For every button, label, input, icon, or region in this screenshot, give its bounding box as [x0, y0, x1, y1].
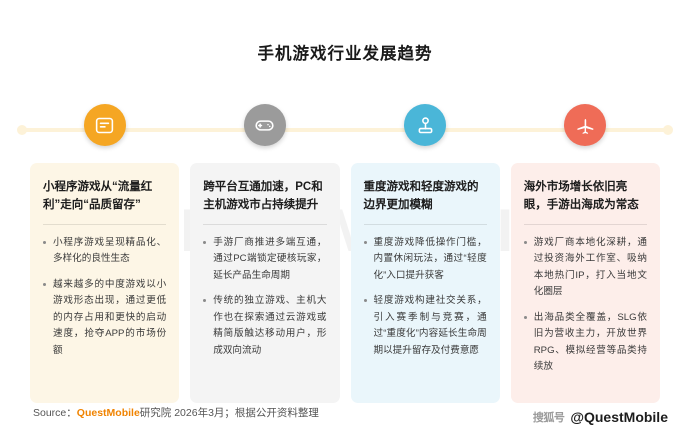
- list-item: 出海品类全覆盖，SLG依旧为营收主力，开放世界RPG、模拟经营等品类持续放: [524, 310, 647, 376]
- list-item: 手游厂商推进多端互通，通过PC端锁定硬核玩家，延长产品生命周期: [203, 235, 326, 285]
- source-prefix: Source：: [33, 407, 77, 419]
- card-3-divider: [364, 224, 487, 225]
- list-item: 轻度游戏构建社交关系，引入赛季制与竞赛，通过“重度化”内容延长生命周期以提升留存…: [364, 293, 487, 359]
- sohu-logo: 搜狐号: [533, 409, 565, 425]
- infographic-page: QUESTMOBILE 手机游戏行业发展趋势 小程序游戏从“流量红利”走向“品质…: [0, 0, 690, 447]
- source-note: Source：QuestMobile研究院 2026年3月；根据公开资料整理: [33, 405, 319, 420]
- gamepad-icon: [244, 104, 286, 146]
- page-title: 手机游戏行业发展趋势: [0, 40, 690, 64]
- card-4-bullets: 游戏厂商本地化深耕，通过投资海外工作室、吸纳本地热门IP，打入当地文化圈层 出海…: [524, 235, 647, 376]
- card-2-bullets: 手游厂商推进多端互通，通过PC端锁定硬核玩家，延长产品生命周期 传统的独立游戏、…: [203, 235, 326, 360]
- source-brand: QuestMobile: [77, 407, 140, 419]
- card-1-divider: [43, 224, 166, 225]
- column-2: 跨平台互通加速，PC和主机游戏市占持续提升 手游厂商推进多端互通，通过PC端锁定…: [190, 104, 339, 403]
- timeline-cap-right: [663, 125, 673, 135]
- card-2-heading: 跨平台互通加速，PC和主机游戏市占持续提升: [203, 178, 326, 215]
- card-3-bullets: 重度游戏降低操作门槛，内置休闲玩法，通过“轻度化”入口提升获客 轻度游戏构建社交…: [364, 235, 487, 360]
- card-4-divider: [524, 224, 647, 225]
- card-3-heading: 重度游戏和轻度游戏的边界更加模糊: [364, 178, 487, 215]
- brand-watermark: 搜狐号 @QuestMobile: [533, 409, 668, 425]
- card-3: 重度游戏和轻度游戏的边界更加模糊 重度游戏降低操作门槛，内置休闲玩法，通过“轻度…: [351, 163, 500, 403]
- list-item: 传统的独立游戏、主机大作也在探索通过云游戏或精简版触达移动用户，形成双向流动: [203, 293, 326, 359]
- column-4: 海外市场增长依旧亮眼，手游出海成为常态 游戏厂商本地化深耕，通过投资海外工作室、…: [511, 104, 660, 403]
- list-item: 游戏厂商本地化深耕，通过投资海外工作室、吸纳本地热门IP，打入当地文化圈层: [524, 235, 647, 301]
- card-1-heading: 小程序游戏从“流量红利”走向“品质留存”: [43, 178, 166, 215]
- card-4: 海外市场增长依旧亮眼，手游出海成为常态 游戏厂商本地化深耕，通过投资海外工作室、…: [511, 163, 660, 403]
- joystick-icon: [404, 104, 446, 146]
- source-text: 研究院 2026年3月；根据公开资料整理: [140, 407, 319, 419]
- card-2: 跨平台互通加速，PC和主机游戏市占持续提升 手游厂商推进多端互通，通过PC端锁定…: [190, 163, 339, 403]
- list-item: 小程序游戏呈现精品化、多样化的良性生态: [43, 235, 166, 268]
- mini-program-icon: [84, 104, 126, 146]
- column-3: 重度游戏和轻度游戏的边界更加模糊 重度游戏降低操作门槛，内置休闲玩法，通过“轻度…: [351, 104, 500, 403]
- brand-handle: @QuestMobile: [570, 409, 668, 425]
- airplane-icon: [564, 104, 606, 146]
- list-item: 越来越多的中度游戏以小游戏形态出现，通过更低的内存占用和更快的启动速度，抢夺AP…: [43, 277, 166, 360]
- card-2-divider: [203, 224, 326, 225]
- card-4-heading: 海外市场增长依旧亮眼，手游出海成为常态: [524, 178, 647, 215]
- timeline-cap-left: [17, 125, 27, 135]
- card-1: 小程序游戏从“流量红利”走向“品质留存” 小程序游戏呈现精品化、多样化的良性生态…: [30, 163, 179, 403]
- cards-row: 小程序游戏从“流量红利”走向“品质留存” 小程序游戏呈现精品化、多样化的良性生态…: [30, 104, 660, 403]
- list-item: 重度游戏降低操作门槛，内置休闲玩法，通过“轻度化”入口提升获客: [364, 235, 487, 285]
- column-1: 小程序游戏从“流量红利”走向“品质留存” 小程序游戏呈现精品化、多样化的良性生态…: [30, 104, 179, 403]
- card-1-bullets: 小程序游戏呈现精品化、多样化的良性生态 越来越多的中度游戏以小游戏形态出现，通过…: [43, 235, 166, 360]
